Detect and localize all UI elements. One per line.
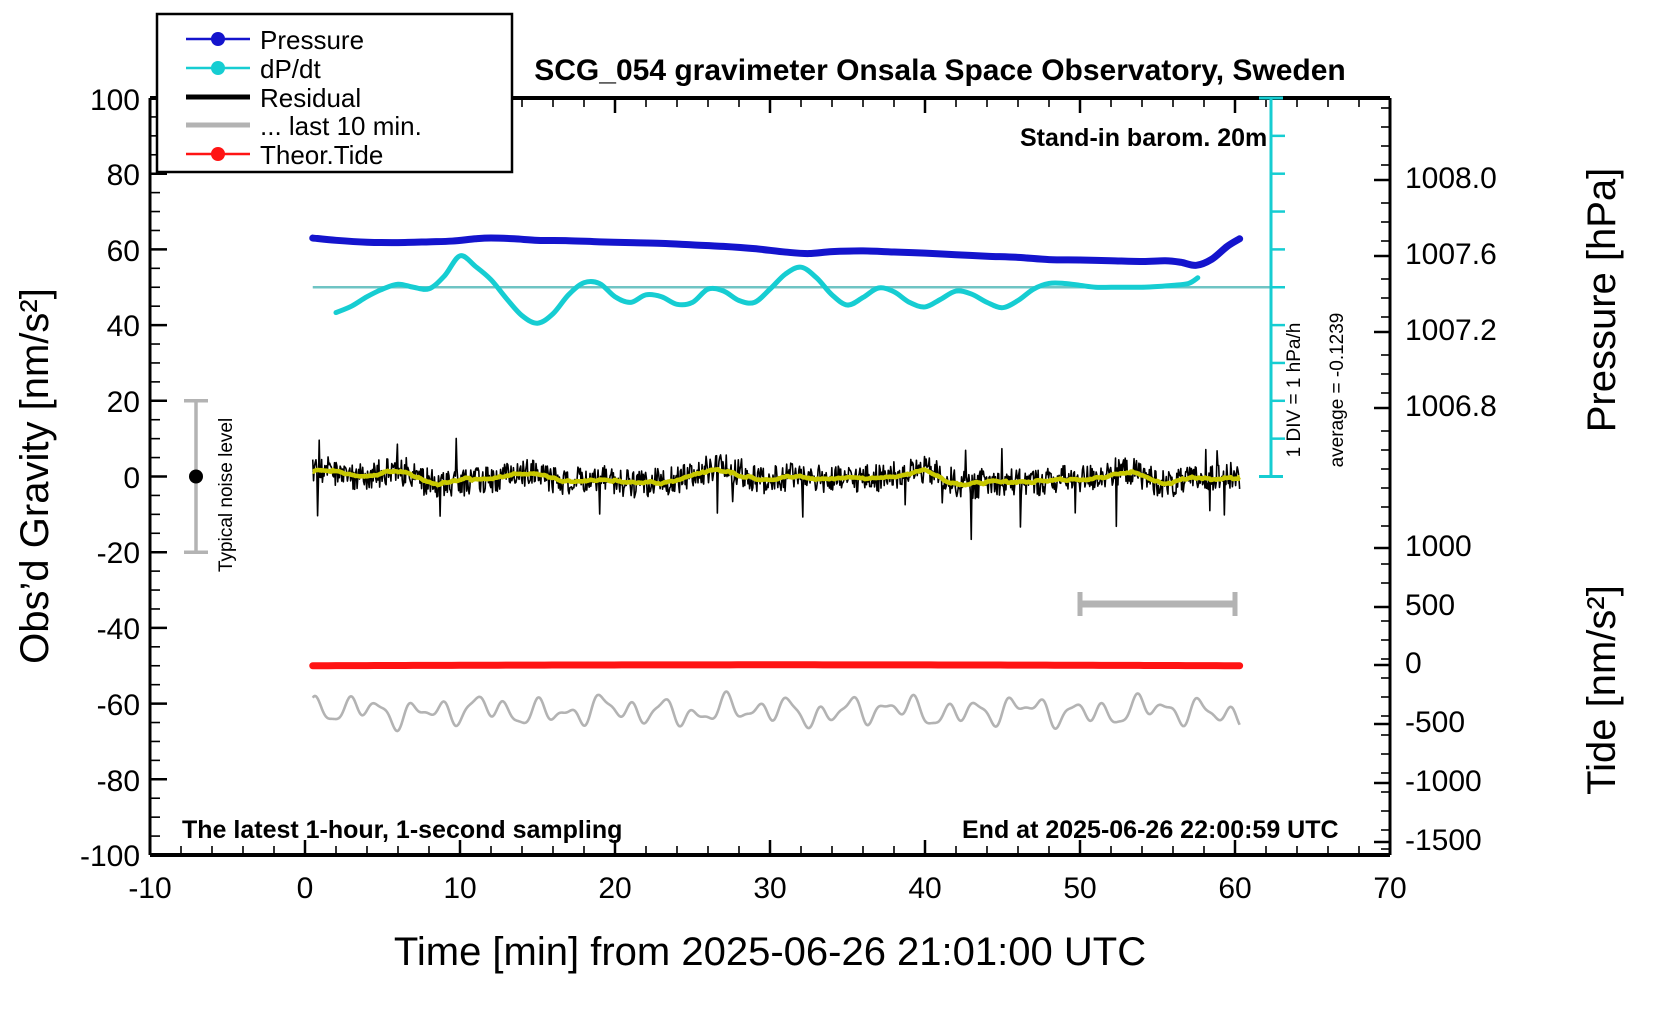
legend: Pressure dP/dt Residual ... last 10 min.… xyxy=(157,14,512,172)
y-right-tide-title: Tide [nm/s²] xyxy=(1580,585,1624,795)
svg-text:1007.2: 1007.2 xyxy=(1405,314,1497,347)
y-right-pressure-title: Pressure [hPa] xyxy=(1580,168,1624,433)
svg-text:60: 60 xyxy=(1218,872,1251,905)
average-label: average = -0.1239 xyxy=(1327,313,1348,468)
svg-text:100: 100 xyxy=(90,84,140,117)
theor-tide-trace xyxy=(313,665,1240,666)
chart-title: SCG_054 gravimeter Onsala Space Observat… xyxy=(534,54,1346,87)
noise-center-dot xyxy=(189,470,203,484)
svg-text:1008.0: 1008.0 xyxy=(1405,162,1497,195)
svg-text:500: 500 xyxy=(1405,589,1455,622)
legend-label: dP/dt xyxy=(260,54,321,84)
gravimeter-plot: -10 0 10 20 30 40 50 60 70 100 80 60 40 … xyxy=(0,0,1660,1020)
svg-text:70: 70 xyxy=(1373,872,1406,905)
div-scale-label: 1 DIV = 1 hPa/h xyxy=(1284,323,1305,458)
legend-label: Pressure xyxy=(260,25,364,55)
legend-label: Residual xyxy=(260,83,361,113)
svg-text:-1000: -1000 xyxy=(1405,765,1482,798)
svg-text:-20: -20 xyxy=(97,537,140,570)
standin-barom-label: Stand-in barom. 20m xyxy=(1020,124,1267,152)
svg-text:-500: -500 xyxy=(1405,706,1465,739)
svg-text:0: 0 xyxy=(1405,647,1422,680)
svg-text:-40: -40 xyxy=(97,613,140,646)
svg-text:80: 80 xyxy=(107,159,140,192)
svg-text:-100: -100 xyxy=(80,840,140,873)
svg-text:-10: -10 xyxy=(128,872,171,905)
svg-text:20: 20 xyxy=(598,872,631,905)
svg-text:60: 60 xyxy=(107,235,140,268)
svg-text:50: 50 xyxy=(1063,872,1096,905)
svg-text:30: 30 xyxy=(753,872,786,905)
legend-label: ... last 10 min. xyxy=(260,111,422,141)
svg-text:1000: 1000 xyxy=(1405,530,1472,563)
svg-text:40: 40 xyxy=(908,872,941,905)
footer-right-label: End at 2025-06-26 22:00:59 UTC xyxy=(962,816,1339,844)
svg-text:1006.8: 1006.8 xyxy=(1405,390,1497,423)
noise-level-label: Typical noise level xyxy=(216,418,237,572)
svg-text:40: 40 xyxy=(107,310,140,343)
chart-root: -10 0 10 20 30 40 50 60 70 100 80 60 40 … xyxy=(0,0,1660,1020)
footer-left-label: The latest 1-hour, 1-second sampling xyxy=(182,816,622,844)
svg-text:-60: -60 xyxy=(97,689,140,722)
svg-text:0: 0 xyxy=(123,462,140,495)
svg-text:1007.6: 1007.6 xyxy=(1405,238,1497,271)
svg-text:20: 20 xyxy=(107,386,140,419)
svg-text:-1500: -1500 xyxy=(1405,824,1482,857)
legend-label: Theor.Tide xyxy=(260,140,383,170)
svg-text:10: 10 xyxy=(443,872,476,905)
svg-text:-80: -80 xyxy=(97,765,140,798)
svg-text:0: 0 xyxy=(297,872,314,905)
y-left-axis-title: Obs’d Gravity [nm/s²] xyxy=(13,288,57,664)
x-axis-title: Time [min] from 2025-06-26 21:01:00 UTC xyxy=(394,930,1146,974)
